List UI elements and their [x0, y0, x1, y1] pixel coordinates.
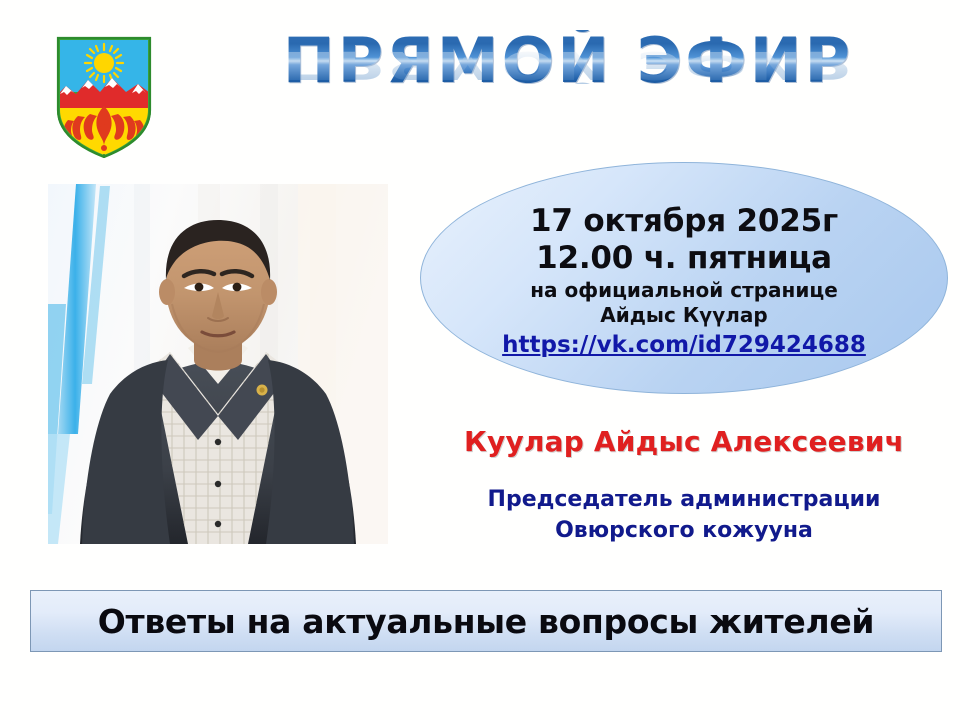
coat-of-arms-emblem	[54, 36, 154, 158]
person-position-line-1: Председатель администрации	[420, 484, 948, 515]
page-title-reflection: ПРЯМОЙ ЭФИР	[268, 46, 868, 84]
person-position: Председатель администрации Овюрского кож…	[420, 484, 948, 546]
live-broadcast-poster: ПРЯМОЙ ЭФИР ПРЯМОЙ ЭФИР	[0, 0, 960, 720]
portrait-photo	[48, 184, 388, 544]
person-full-name: Куулар Айдыс Алексеевич	[420, 425, 948, 458]
vk-profile-link[interactable]: https://vk.com/id729424688	[502, 332, 866, 358]
portrait-illustration	[48, 184, 388, 544]
event-details-oval: 17 октября 2025г 12.00 ч. пятница на офи…	[420, 162, 948, 394]
event-channel-label: на официальной странице	[530, 278, 838, 303]
event-date: 17 октября 2025г	[530, 203, 838, 241]
event-account-name: Айдыс Күүлар	[600, 303, 767, 328]
poster-title-block: ПРЯМОЙ ЭФИР ПРЯМОЙ ЭФИР	[268, 30, 868, 160]
bottom-banner-text: Ответы на актуальные вопросы жителей	[98, 602, 874, 641]
coat-of-arms-icon	[54, 36, 154, 158]
event-time: 12.00 ч. пятница	[536, 240, 832, 278]
person-position-line-2: Овюрского кожууна	[420, 515, 948, 546]
bottom-banner: Ответы на актуальные вопросы жителей	[30, 590, 942, 652]
